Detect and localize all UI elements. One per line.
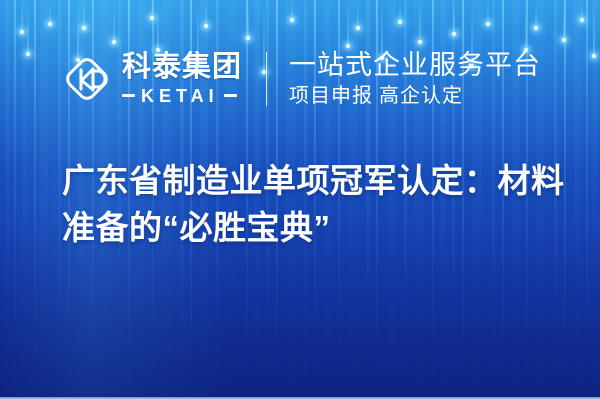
falling-light-particle	[418, 0, 422, 44]
falling-light-particle	[48, 0, 52, 26]
particle-tail	[582, 0, 583, 22]
particle-tail	[594, 0, 595, 58]
particle-dot	[112, 40, 116, 44]
particle-tail	[420, 0, 421, 44]
particle-tail	[488, 0, 489, 26]
particle-dot	[398, 20, 402, 24]
light-band	[22, 0, 27, 400]
particle-dot	[20, 30, 24, 34]
particle-dot	[82, 26, 86, 30]
brand-logo[interactable]: 科泰集团 KETAI	[62, 53, 242, 105]
particle-tail	[454, 0, 455, 36]
particle-dot	[562, 38, 566, 42]
brand-name-en: KETAI	[141, 87, 219, 105]
particle-dot	[356, 26, 360, 30]
brand-wordmark: 科泰集团 KETAI	[122, 53, 242, 105]
brand-tagline: 一站式企业服务平台 项目申报 高企认定	[289, 50, 541, 107]
wordmark-rule-left	[122, 94, 135, 97]
falling-light-particle	[26, 0, 30, 56]
particle-dot	[290, 18, 294, 22]
particle-tail	[564, 0, 565, 42]
falling-light-particle	[452, 0, 456, 36]
particle-dot	[452, 32, 456, 36]
falling-light-particle	[150, 0, 154, 20]
falling-light-particle	[112, 0, 116, 44]
falling-light-particle	[356, 0, 360, 30]
particle-dot	[246, 36, 250, 40]
particle-tail	[50, 0, 51, 26]
falling-light-particle	[534, 0, 538, 30]
particle-tail	[158, 0, 159, 52]
particle-dot	[418, 40, 422, 44]
particle-tail	[400, 0, 401, 24]
particle-tail	[84, 0, 85, 30]
falling-light-particle	[580, 0, 584, 22]
light-band	[14, 0, 16, 400]
particle-dot	[592, 54, 596, 58]
particle-tail	[348, 0, 349, 48]
particle-dot	[580, 18, 584, 22]
particle-tail	[114, 0, 115, 44]
particle-dot	[26, 52, 30, 56]
tagline-main: 一站式企业服务平台	[289, 50, 541, 80]
particle-dot	[534, 26, 538, 30]
falling-light-particle	[592, 0, 596, 58]
particle-tail	[292, 0, 293, 22]
header-divider	[266, 52, 267, 106]
particle-tail	[526, 0, 527, 52]
falling-light-particle	[290, 0, 294, 22]
particle-tail	[248, 0, 249, 40]
particle-tail	[22, 0, 23, 34]
falling-light-particle	[20, 0, 24, 34]
kd-diamond-monogram-icon	[62, 54, 112, 104]
falling-light-particle	[204, 0, 208, 28]
light-band	[6, 0, 9, 400]
particle-tail	[152, 0, 153, 20]
brand-name-en-row: KETAI	[122, 87, 242, 105]
particle-dot	[48, 22, 52, 26]
promo-banner: 科泰集团 KETAI 一站式企业服务平台 项目申报 高企认定 广东省制造业单项冠…	[0, 0, 600, 400]
particle-dot	[150, 16, 154, 20]
light-band	[574, 0, 581, 400]
particle-dot	[486, 22, 490, 26]
falling-light-particle	[486, 0, 490, 26]
light-band	[586, 0, 588, 400]
banner-header: 科泰集团 KETAI 一站式企业服务平台 项目申报 高企认定	[62, 46, 541, 112]
falling-light-particle	[562, 0, 566, 42]
particle-tail	[28, 0, 29, 56]
light-band	[40, 0, 48, 400]
falling-light-particle	[246, 0, 250, 40]
wordmark-rule-right	[224, 94, 237, 97]
brand-name-cn: 科泰集团	[122, 53, 242, 83]
particle-dot	[204, 24, 208, 28]
falling-light-particle	[398, 0, 402, 24]
falling-light-particle	[524, 0, 528, 52]
light-band	[58, 0, 61, 400]
page-title: 广东省制造业单项冠军认定：材料准备的“必胜宝典”	[62, 158, 572, 252]
tagline-sub: 项目申报 高企认定	[289, 84, 541, 108]
falling-light-particle	[346, 0, 350, 48]
falling-light-particle	[82, 0, 86, 30]
particle-tail	[536, 0, 537, 30]
light-band	[592, 0, 598, 400]
light-band	[34, 0, 36, 400]
particle-tail	[206, 0, 207, 28]
particle-tail	[358, 0, 359, 30]
falling-light-particle	[156, 0, 160, 52]
